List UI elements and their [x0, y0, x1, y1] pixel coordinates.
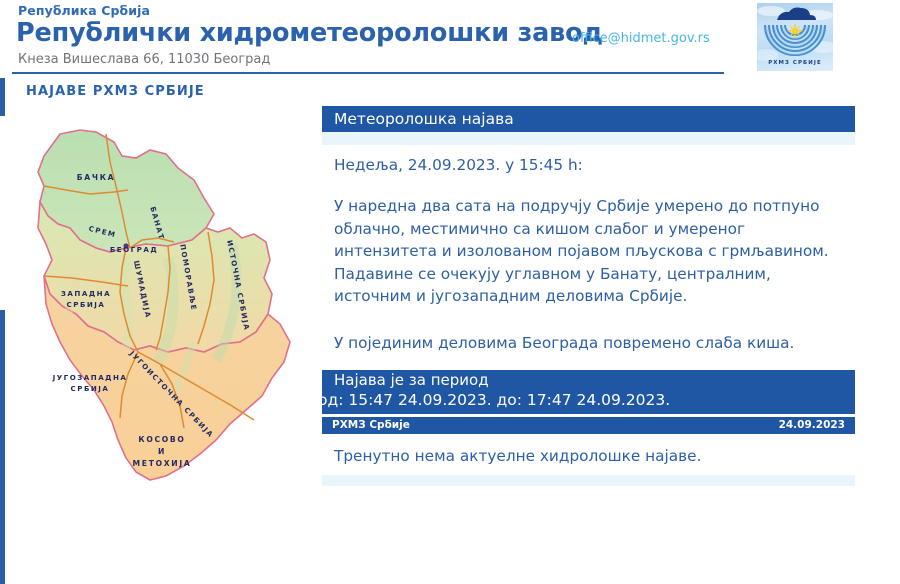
bulletin-title-underlay — [322, 132, 855, 145]
validity-period-bar: Најава је за период од: 15:47 24.09.2023… — [322, 370, 855, 414]
bulletin-title-bar: Метеоролошка најава — [322, 106, 855, 132]
section-heading: НАЈАВЕ РХМЗ СРБИЈЕ — [26, 84, 205, 99]
map-label-kosovo-i: И — [158, 447, 166, 456]
map-label-backa: БАЧКА — [77, 173, 115, 182]
map-label-southwest-serbia-2: СРБИЈА — [71, 384, 110, 393]
map-label-southwest-serbia-1: ЈУГОЗАПАДНА — [52, 373, 128, 382]
hydrological-notice: Тренутно нема актуелне хидролошке најаве… — [322, 434, 855, 465]
map-label-western-serbia-2: СРБИЈА — [67, 300, 106, 309]
source-date: 24.09.2023 — [779, 419, 845, 431]
bulletin-paragraph-1: У наредна два сата на подручју Србије ум… — [334, 174, 834, 308]
map-label-kosovo: КОСОВО — [138, 435, 185, 444]
left-accent-strip-top — [0, 78, 5, 116]
map-label-belgrade: БЕОГРАД — [110, 245, 158, 254]
logo-emblem-icon: РХМЗ СРБИЈЕ — [757, 3, 833, 71]
institute-logo: РХМЗ СРБИЈЕ — [757, 3, 833, 71]
left-accent-strip-bottom — [0, 310, 5, 584]
institute-address: Кнеза Вишеслава 66, 11030 Београд — [18, 52, 270, 67]
bulletin-body: Недеља, 24.09.2023. у 15:45 h: У наредна… — [322, 145, 855, 354]
validity-period-label: Најава је за период — [334, 371, 489, 389]
country-label: Република Србија — [18, 3, 150, 18]
bulletin-paragraph-2: У појединим деловима Београда повремено … — [334, 308, 834, 355]
contact-email-link[interactable]: office@hidmet.gov.rs — [572, 31, 710, 46]
source-label: РХМЗ Србије — [332, 419, 410, 431]
serbia-regions-map[interactable]: БАЧКА БАНАТ СРЕМ БЕОГРАД ЗАПАДНА СРБИЈА … — [18, 128, 318, 486]
map-label-metohija: МЕТОХИЈА — [133, 459, 192, 468]
bulletin-issued-time: Недеља, 24.09.2023. у 15:45 h: — [334, 145, 855, 174]
source-footer-bar: РХМЗ Србије 24.09.2023 — [322, 417, 855, 434]
map-label-western-serbia-1: ЗАПАДНА — [61, 289, 111, 298]
bulletin-panel: Метеоролошка најава Недеља, 24.09.2023. … — [322, 106, 900, 486]
map-svg: БАЧКА БАНАТ СРЕМ БЕОГРАД ЗАПАДНА СРБИЈА … — [18, 128, 318, 486]
institute-title: Републички хидрометеоролошки завод — [16, 18, 603, 48]
header-divider — [12, 72, 724, 74]
bulletin-bottom-tint — [322, 475, 855, 486]
validity-period-range: од: 15:47 24.09.2023. до: 17:47 24.09.20… — [318, 391, 670, 409]
logo-caption: РХМЗ СРБИЈЕ — [768, 60, 822, 66]
